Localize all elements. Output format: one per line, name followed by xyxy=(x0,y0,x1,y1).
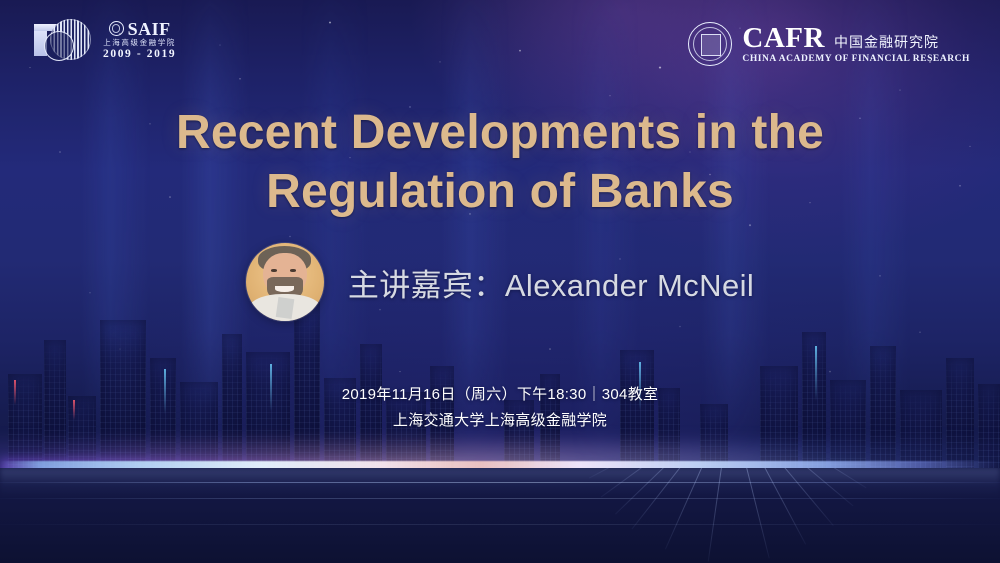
event-datetime-venue: 2019年11月16日（周六）下午18:30｜304教室 xyxy=(0,382,1000,408)
title-line-1: Recent Developments in the xyxy=(90,104,910,163)
event-organizer: 上海交通大学上海高级金融学院 xyxy=(0,408,1000,434)
speaker-row: 主讲嘉宾：Alexander McNeil xyxy=(0,243,1000,321)
event-poster: SAIF 上海高级金融学院 2009 - 2019 CAFR 中国金融研究院 C… xyxy=(0,0,1000,563)
speaker-label: 主讲嘉宾：Alexander McNeil xyxy=(348,260,754,305)
cafr-english-name: CHINA ACADEMY OF FINANCIAL RESEARCH xyxy=(742,55,970,65)
cafr-chinese-name: 中国金融研究院 xyxy=(834,35,939,49)
title-line-2: Regulation of Banks xyxy=(90,163,910,222)
saif-logo: SAIF 上海高级金融学院 2009 - 2019 xyxy=(34,16,176,62)
page-title: Recent Developments in the Regulation of… xyxy=(0,104,1000,221)
perspective-grid-floor xyxy=(0,468,1000,563)
anniversary-10-icon xyxy=(34,16,94,62)
horizon-bloom xyxy=(0,439,1000,497)
cafr-logo: CAFR 中国金融研究院 CHINA ACADEMY OF FINANCIAL … xyxy=(688,22,970,66)
cafr-seal-icon xyxy=(688,22,732,66)
horizon-light-band xyxy=(0,461,1000,475)
saif-acronym: SAIF xyxy=(128,20,171,38)
saif-seal-icon xyxy=(109,21,124,36)
saif-anniversary-years: 2009 - 2019 xyxy=(103,49,176,61)
saif-chinese-name: 上海高级金融学院 xyxy=(103,39,176,47)
avatar xyxy=(246,243,324,321)
event-info: 2019年11月16日（周六）下午18:30｜304教室 上海交通大学上海高级金… xyxy=(0,382,1000,435)
horizon-purple-glow xyxy=(0,459,620,479)
cafr-acronym: CAFR xyxy=(742,24,825,53)
